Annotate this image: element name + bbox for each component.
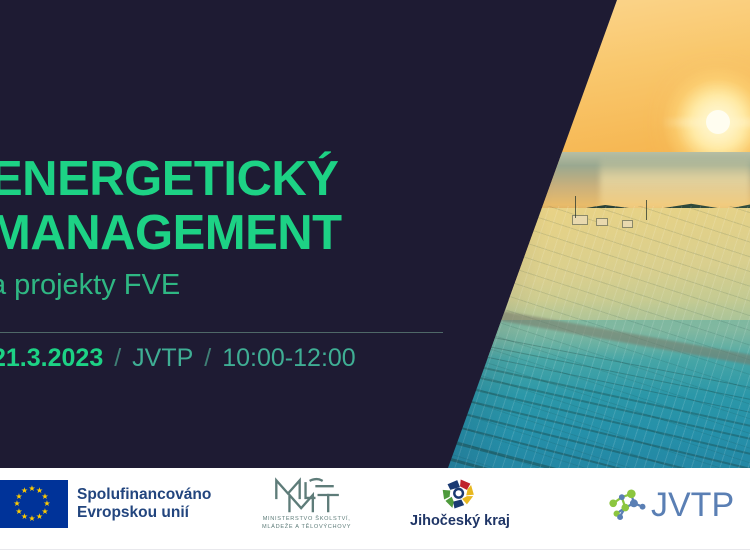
jvtp-network-icon [604, 486, 650, 524]
sun-icon [706, 110, 730, 134]
meta-separator-2: / [193, 344, 222, 372]
event-date: 21.3.2023 [0, 344, 103, 372]
footer-logo-bar: ★★★★★★★★★★★★ Spolufinancováno Evropskou … [0, 468, 750, 555]
eu-flag-icon: ★★★★★★★★★★★★ [0, 480, 68, 528]
meta-separator-1: / [103, 344, 132, 372]
headline-block: ENERGETICKÝ MANAGEMENT a projekty FVE [0, 152, 460, 302]
logo-jvtp: JVTP [604, 486, 734, 524]
eu-logo-text: Spolufinancováno Evropskou unií [77, 486, 211, 522]
msmt-logo-line-1: MINISTERSTVO ŠKOLSTVÍ, [262, 516, 351, 524]
eu-logo-line-2: Evropskou unií [77, 504, 211, 522]
hero-section: ENERGETICKÝ MANAGEMENT a projekty FVE 21… [0, 0, 750, 468]
eu-star-icon: ★ [13, 500, 21, 508]
logo-european-union: ★★★★★★★★★★★★ Spolufinancováno Evropskou … [0, 480, 211, 528]
msmt-monogram-icon [270, 476, 344, 514]
sun-glint [660, 118, 750, 127]
event-time: 10:00-12:00 [222, 344, 355, 372]
eu-star-icon: ★ [36, 513, 44, 521]
msmt-logo-text: MINISTERSTVO ŠKOLSTVÍ, MLÁDEŽE A TĚLOVÝC… [262, 516, 351, 531]
jvtp-label: JVTP [651, 487, 734, 523]
footer-hairline [0, 549, 750, 550]
logo-jihocesky-kraj: Jihočeský kraj [410, 476, 510, 530]
eu-logo-line-1: Spolufinancováno [77, 486, 211, 504]
eu-star-icon: ★ [28, 515, 36, 523]
subheadline: a projekty FVE [0, 268, 460, 302]
event-meta: 21.3.2023/JVTP/10:00-12:00 [0, 342, 356, 374]
jihocesky-kraj-label: Jihočeský kraj [410, 513, 510, 530]
headline-line-1: ENERGETICKÝ [0, 152, 460, 206]
logo-msmt: MINISTERSTVO ŠKOLSTVÍ, MLÁDEŽE A TĚLOVÝC… [262, 476, 351, 531]
headline-line-2: MANAGEMENT [0, 206, 460, 260]
event-venue: JVTP [132, 344, 193, 372]
msmt-logo-line-2: MLÁDEŽE A TĚLOVÝCHOVY [262, 524, 351, 532]
jihocesky-kraj-emblem-icon [439, 476, 481, 512]
eu-star-icon: ★ [21, 487, 29, 495]
event-poster: ENERGETICKÝ MANAGEMENT a projekty FVE 21… [0, 0, 750, 555]
divider-rule [0, 332, 443, 333]
eu-star-icon: ★ [15, 508, 23, 516]
